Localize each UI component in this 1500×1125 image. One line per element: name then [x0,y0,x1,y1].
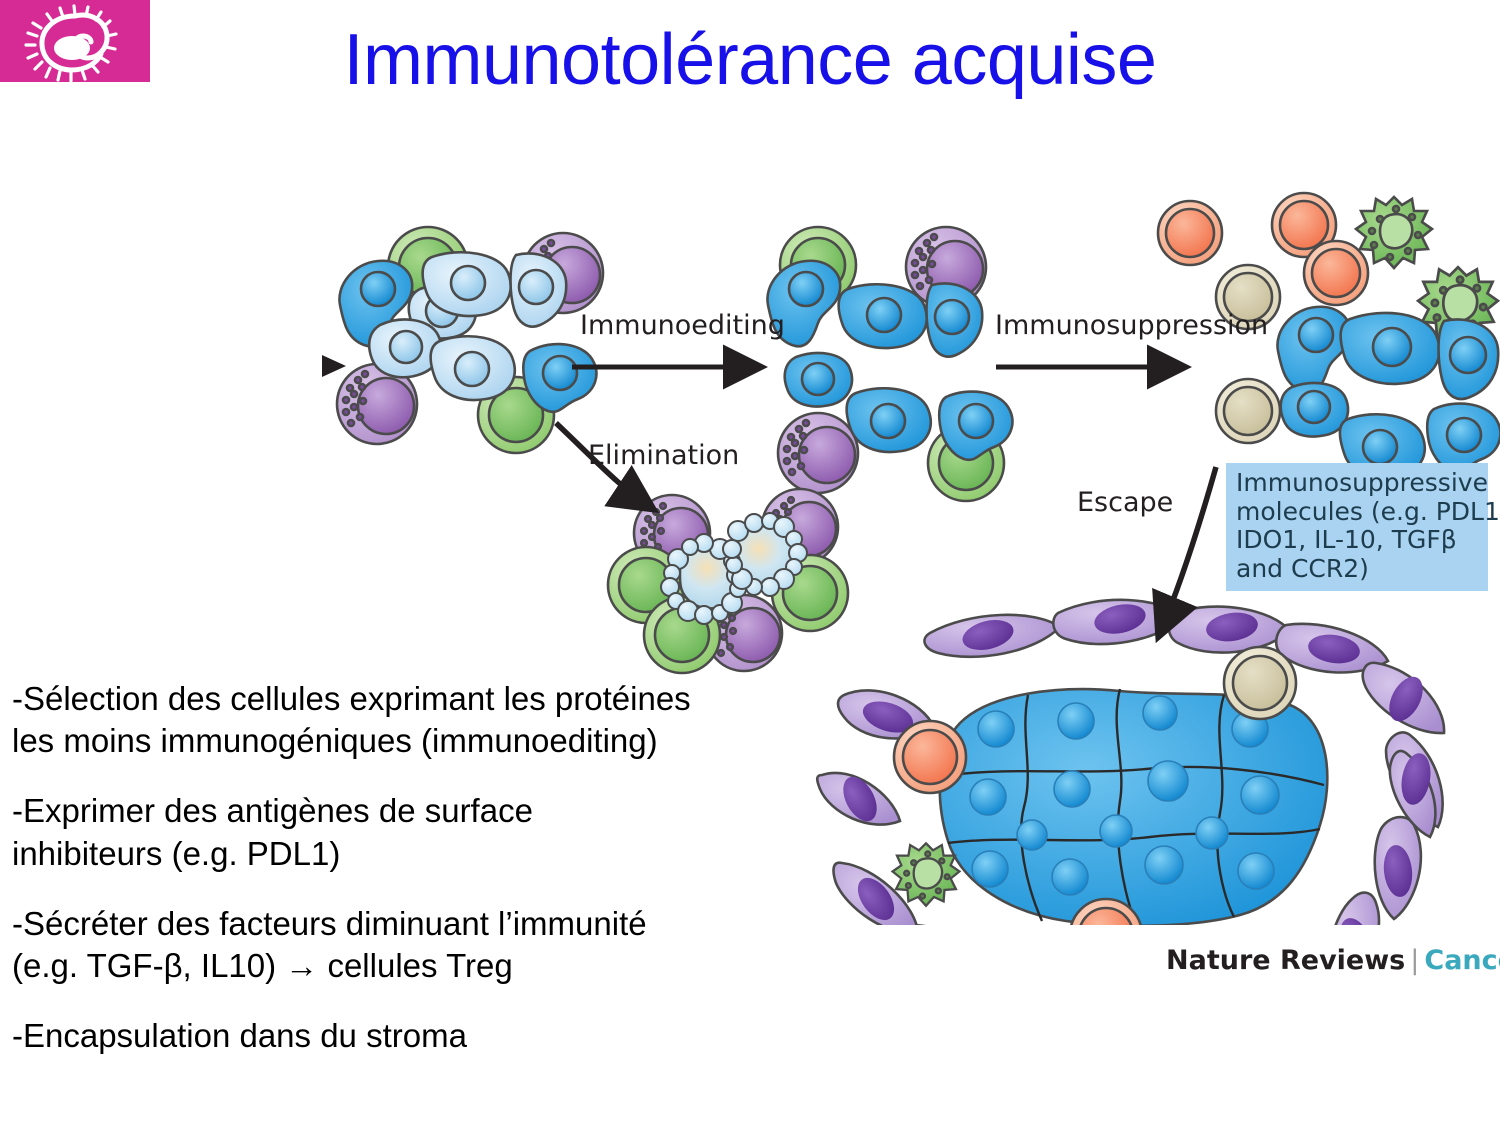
bullet-item-3: -Sécréter des facteurs diminuant l’immun… [12,903,812,987]
callout-line-1: Immunosuppressive [1236,469,1480,498]
cell-organism-icon [0,0,150,82]
credit-separator: | [1410,945,1419,976]
bullet-item-2: -Exprimer des antigènes de surface inhib… [12,790,812,874]
bullet-item-4: -Encapsulation dans du stroma [12,1015,812,1057]
label-immunoediting: Immunoediting [580,310,785,341]
tumor-cluster-heterogeneous [337,227,603,453]
label-elimination: Elimination [588,440,739,471]
bullet-list: -Sélection des cellules exprimant les pr… [12,678,812,1086]
entry-arrowhead [322,355,346,377]
callout-line-3: IDO1, IL-10, TGFβ [1236,526,1480,555]
escape-stroma-cluster [817,600,1444,925]
credit-primary: Nature Reviews [1166,945,1405,976]
immunosuppressive-molecules-callout: Immunosuppressive molecules (e.g. PDL1, … [1226,463,1488,591]
tumor-cluster-edited [767,227,1012,501]
label-immunosuppression: Immunosuppression [995,310,1268,341]
label-escape: Escape [1077,487,1173,518]
page-title: Immunotolérance acquise [150,24,1350,96]
credit-secondary: Cancer [1424,945,1500,976]
callout-line-4: and CCR2) [1236,555,1480,584]
journal-credit: Nature Reviews|Cancer [1166,945,1500,976]
elimination-cluster [608,489,848,673]
bullet-item-1: -Sélection des cellules exprimant les pr… [12,678,812,762]
organization-logo [0,0,150,82]
callout-line-2: molecules (e.g. PDL1, [1236,498,1480,527]
